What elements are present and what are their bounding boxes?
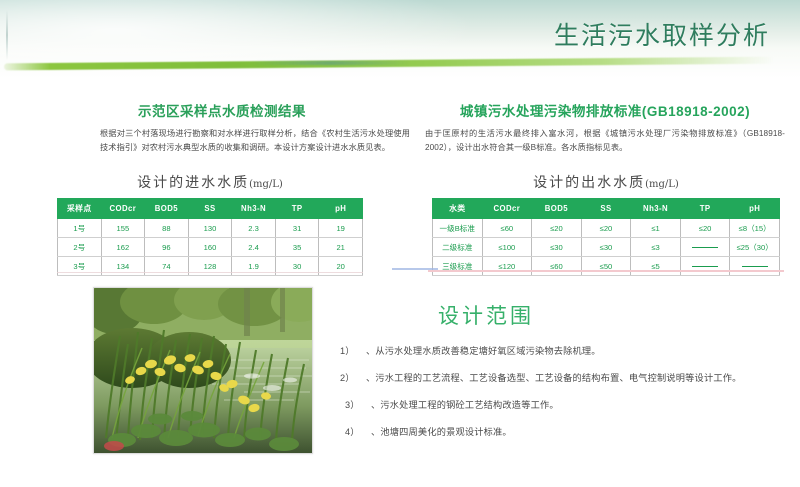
col-cod: CODcr bbox=[482, 199, 532, 219]
cell-cod: ≤100 bbox=[482, 238, 532, 257]
cell-cod: 155 bbox=[101, 219, 145, 238]
list-item-text: 、污水处理工程的钢砼工艺结构改造等工作。 bbox=[371, 400, 559, 410]
col-ph: pH bbox=[319, 199, 363, 219]
empty-value-dash bbox=[742, 266, 768, 267]
table-row: 1号 155 88 130 2.3 31 19 bbox=[58, 219, 363, 238]
cell-cod: ≤120 bbox=[482, 257, 532, 276]
cell-nh3n: ≤3 bbox=[631, 238, 681, 257]
cell-cod: ≤60 bbox=[482, 219, 532, 238]
influent-table-title: 设计的进水水质(mg/L) bbox=[57, 172, 363, 192]
list-item: 3）、污水处理工程的钢砼工艺结构改造等工作。 bbox=[340, 400, 790, 411]
cell-ph: ≤25（30） bbox=[730, 238, 780, 257]
influent-table-underline bbox=[57, 272, 363, 273]
list-item: 4）、池塘四周美化的景观设计标准。 bbox=[340, 427, 790, 438]
col-sample-point: 采样点 bbox=[58, 199, 102, 219]
cell-nh3n: 2.3 bbox=[232, 219, 276, 238]
effluent-table: 水类 CODcr BOD5 SS Nh3-N TP pH 一级B标准 ≤60 ≤… bbox=[432, 198, 780, 276]
table-row: 一级B标准 ≤60 ≤20 ≤20 ≤1 ≤20 ≤8（15） bbox=[433, 219, 780, 238]
pond-photo bbox=[93, 287, 313, 454]
page-title: 生活污水取样分析 bbox=[554, 16, 770, 52]
right-text-column: 城镇污水处理污染物排放标准(GB18918-2002) 由于匡原村的生活污水最终… bbox=[425, 100, 785, 156]
cell-tp: 31 bbox=[275, 219, 319, 238]
cell-ph: 19 bbox=[319, 219, 363, 238]
design-scope-list: 1）、从污水处理水质改善稳定塘好氧区域污染物去除机理。 2）、污水工程的工艺流程… bbox=[340, 346, 790, 438]
list-item: 1）、从污水处理水质改善稳定塘好氧区域污染物去除机理。 bbox=[340, 346, 790, 357]
cell-ss: ≤20 bbox=[581, 219, 631, 238]
col-water-class: 水类 bbox=[433, 199, 483, 219]
left-section-paragraph: 根据对三个村落现场进行勘察和对水样进行取样分析，结合《农村生活污水处理使用技术指… bbox=[100, 127, 410, 156]
divider-accent-line bbox=[392, 268, 438, 270]
cell-ss: 130 bbox=[188, 219, 232, 238]
cell-nh3n: 2.4 bbox=[232, 238, 276, 257]
effluent-table-title-text: 设计的出水水质 bbox=[533, 175, 645, 191]
table-row: 二级标准 ≤100 ≤30 ≤30 ≤3 ≤25（30） bbox=[433, 238, 780, 257]
cell-bod: ≤20 bbox=[532, 219, 582, 238]
left-text-column: 示范区采样点水质检测结果 根据对三个村落现场进行勘察和对水样进行取样分析，结合《… bbox=[100, 100, 410, 156]
table-header-row: 采样点 CODcr BOD5 SS Nh3-N TP pH bbox=[58, 199, 363, 219]
effluent-table-block: 设计的出水水质(mg/L) 水类 CODcr BOD5 SS Nh3-N TP … bbox=[432, 172, 780, 276]
list-item-text: 、从污水处理水质改善稳定塘好氧区域污染物去除机理。 bbox=[366, 346, 601, 356]
cell-cod: 162 bbox=[101, 238, 145, 257]
cell-ss: ≤30 bbox=[581, 238, 631, 257]
col-ss: SS bbox=[188, 199, 232, 219]
cell-water-class: 一级B标准 bbox=[433, 219, 483, 238]
cell-bod: ≤60 bbox=[532, 257, 582, 276]
banner-left-edge-line bbox=[6, 10, 8, 60]
cell-nh3n: ≤5 bbox=[631, 257, 681, 276]
cell-ph: ≤8（15） bbox=[730, 219, 780, 238]
influent-table: 采样点 CODcr BOD5 SS Nh3-N TP pH 1号 155 88 … bbox=[57, 198, 363, 276]
col-bod: BOD5 bbox=[532, 199, 582, 219]
cell-bod: 96 bbox=[145, 238, 189, 257]
right-section-paragraph: 由于匡原村的生活污水最终排入富水河，根据《城镇污水处理厂污染物排放标准》（GB1… bbox=[425, 127, 785, 156]
banner-teal-streak bbox=[250, 61, 410, 65]
cell-bod: ≤30 bbox=[532, 238, 582, 257]
cell-ss: ≤50 bbox=[581, 257, 631, 276]
left-section-heading: 示范区采样点水质检测结果 bbox=[138, 100, 410, 120]
col-cod: CODcr bbox=[101, 199, 145, 219]
col-nh3n: Nh3-N bbox=[232, 199, 276, 219]
empty-value-dash bbox=[692, 266, 718, 267]
effluent-table-title: 设计的出水水质(mg/L) bbox=[432, 172, 780, 192]
effluent-table-underline bbox=[428, 270, 784, 272]
cell-bod: 88 bbox=[145, 219, 189, 238]
page-banner: 生活污水取样分析 bbox=[0, 0, 800, 78]
cell-tp bbox=[680, 257, 730, 276]
cell-sample-point: 2号 bbox=[58, 238, 102, 257]
influent-table-title-text: 设计的进水水质 bbox=[137, 175, 249, 191]
col-ss: SS bbox=[581, 199, 631, 219]
right-section-heading: 城镇污水处理污染物排放标准(GB18918-2002) bbox=[425, 100, 785, 120]
table-row: 2号 162 96 160 2.4 35 21 bbox=[58, 238, 363, 257]
cell-ph: 21 bbox=[319, 238, 363, 257]
cell-tp: 35 bbox=[275, 238, 319, 257]
cell-water-class: 三级标准 bbox=[433, 257, 483, 276]
influent-table-block: 设计的进水水质(mg/L) 采样点 CODcr BOD5 SS Nh3-N TP… bbox=[57, 172, 363, 276]
col-tp: TP bbox=[275, 199, 319, 219]
cell-sample-point: 1号 bbox=[58, 219, 102, 238]
design-scope-section: 设计范围 1）、从污水处理水质改善稳定塘好氧区域污染物去除机理。 2）、污水工程… bbox=[340, 300, 790, 454]
col-bod: BOD5 bbox=[145, 199, 189, 219]
list-item-number: 3） bbox=[340, 400, 371, 411]
effluent-table-unit: (mg/L) bbox=[645, 179, 679, 190]
col-tp: TP bbox=[680, 199, 730, 219]
list-item-text: 、池塘四周美化的景观设计标准。 bbox=[371, 427, 512, 437]
pond-photo-illustration bbox=[94, 288, 312, 453]
influent-table-unit: (mg/L) bbox=[249, 179, 283, 190]
col-ph: pH bbox=[730, 199, 780, 219]
cell-tp: ≤20 bbox=[680, 219, 730, 238]
cell-nh3n: ≤1 bbox=[631, 219, 681, 238]
table-row: 三级标准 ≤120 ≤60 ≤50 ≤5 bbox=[433, 257, 780, 276]
list-item-text: 、污水工程的工艺流程、工艺设备选型、工艺设备的结构布置、电气控制说明等设计工作。 bbox=[366, 373, 742, 383]
list-item-number: 1） bbox=[340, 346, 366, 357]
design-scope-title: 设计范围 bbox=[438, 300, 790, 330]
list-item-number: 4） bbox=[340, 427, 371, 438]
empty-value-dash bbox=[692, 247, 718, 248]
list-item: 2）、污水工程的工艺流程、工艺设备选型、工艺设备的结构布置、电气控制说明等设计工… bbox=[340, 373, 790, 384]
cell-ss: 160 bbox=[188, 238, 232, 257]
table-header-row: 水类 CODcr BOD5 SS Nh3-N TP pH bbox=[433, 199, 780, 219]
cell-tp bbox=[680, 238, 730, 257]
list-item-number: 2） bbox=[340, 373, 366, 384]
cell-ph bbox=[730, 257, 780, 276]
cell-water-class: 二级标准 bbox=[433, 238, 483, 257]
col-nh3n: Nh3-N bbox=[631, 199, 681, 219]
